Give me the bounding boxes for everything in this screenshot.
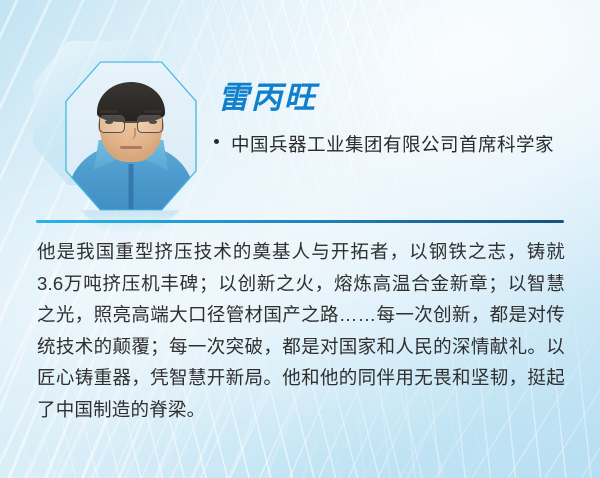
portrait-photo bbox=[64, 60, 198, 212]
portrait-reflection bbox=[70, 210, 190, 236]
bullet-icon bbox=[214, 139, 219, 144]
photo-eyebrow-right bbox=[144, 110, 162, 113]
profile-card: 雷丙旺 中国兵器工业集团有限公司首席科学家 他是我国重型挤压技术的奠基人与开拓者… bbox=[0, 0, 600, 478]
person-title: 中国兵器工业集团有限公司首席科学家 bbox=[231, 128, 554, 161]
photo-mouth bbox=[120, 146, 142, 149]
photo-eyebrow-left bbox=[100, 110, 118, 113]
glasses-bridge bbox=[123, 121, 139, 123]
glasses-lens-left bbox=[99, 115, 125, 133]
glasses-lens-right bbox=[137, 115, 163, 133]
portrait bbox=[30, 38, 202, 216]
photo-shirt-placket bbox=[129, 164, 134, 212]
section-divider bbox=[36, 220, 564, 223]
person-title-row: 中国兵器工业集团有限公司首席科学家 bbox=[214, 128, 576, 161]
person-name: 雷丙旺 bbox=[218, 72, 317, 117]
biography-text: 他是我国重型挤压技术的奠基人与开拓者，以钢铁之志，铸就3.6万吨挤压机丰碑；以创… bbox=[37, 236, 565, 425]
